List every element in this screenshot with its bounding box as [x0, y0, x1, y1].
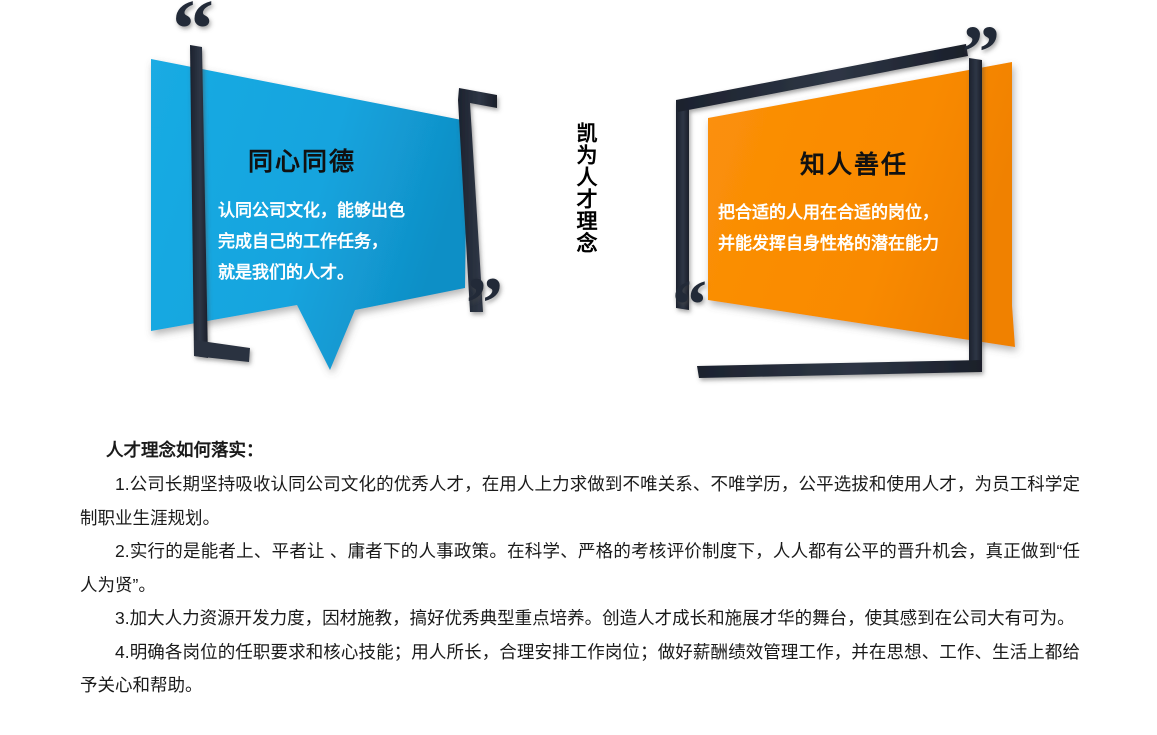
blue-close-quote-icon: ”	[466, 263, 503, 345]
panel-body-line: 就是我们的人才。	[218, 257, 405, 288]
panel-body-line: 完成自己的工作任务，	[218, 226, 405, 257]
article-paragraph: 2.实行的是能者上、平者让 、庸者下的人事政策。在科学、严格的考核评价制度下，人…	[80, 535, 1080, 602]
orange-panel-body: 把合适的人用在合适的岗位，并能发挥自身性格的潜在能力	[718, 197, 939, 259]
article-heading: 人才理念如何落实：	[106, 432, 1080, 468]
center-vertical-label: 凯为人才理念	[558, 122, 598, 254]
panel-body-line: 认同公司文化，能够出色	[218, 195, 405, 226]
panel-body-line: 把合适的人用在合适的岗位，	[718, 197, 939, 228]
orange-open-quote-icon: “	[672, 267, 707, 344]
article-paragraph: 1.公司长期坚持吸收认同公司文化的优秀人才，在用人上力求做到不唯关系、不唯学历，…	[80, 468, 1080, 535]
blue-panel-body: 认同公司文化，能够出色完成自己的工作任务，就是我们的人才。	[218, 195, 405, 288]
orange-close-quote-icon: ”	[962, 11, 1000, 95]
blue-open-quote-icon: “	[172, 0, 214, 76]
article-paragraph: 3.加大人力资源开发力度，因材施教，搞好优秀典型重点培养。创造人才成长和施展才华…	[80, 602, 1080, 636]
article-body: 人才理念如何落实： 1.公司长期坚持吸收认同公司文化的优秀人才，在用人上力求做到…	[80, 432, 1080, 703]
talent-philosophy-infographic: “ ” ” “ 同心同德 认同公司文化，能够出色完成自己的工作任务，就是我们的人…	[0, 0, 1157, 420]
panel-body-line: 并能发挥自身性格的潜在能力	[718, 228, 939, 259]
orange-panel-title: 知人善任	[800, 145, 908, 181]
blue-panel-title: 同心同德	[248, 142, 356, 178]
article-paragraph: 4.明确各岗位的任职要求和核心技能；用人所长，合理安排工作岗位；做好薪酬绩效管理…	[80, 636, 1080, 703]
